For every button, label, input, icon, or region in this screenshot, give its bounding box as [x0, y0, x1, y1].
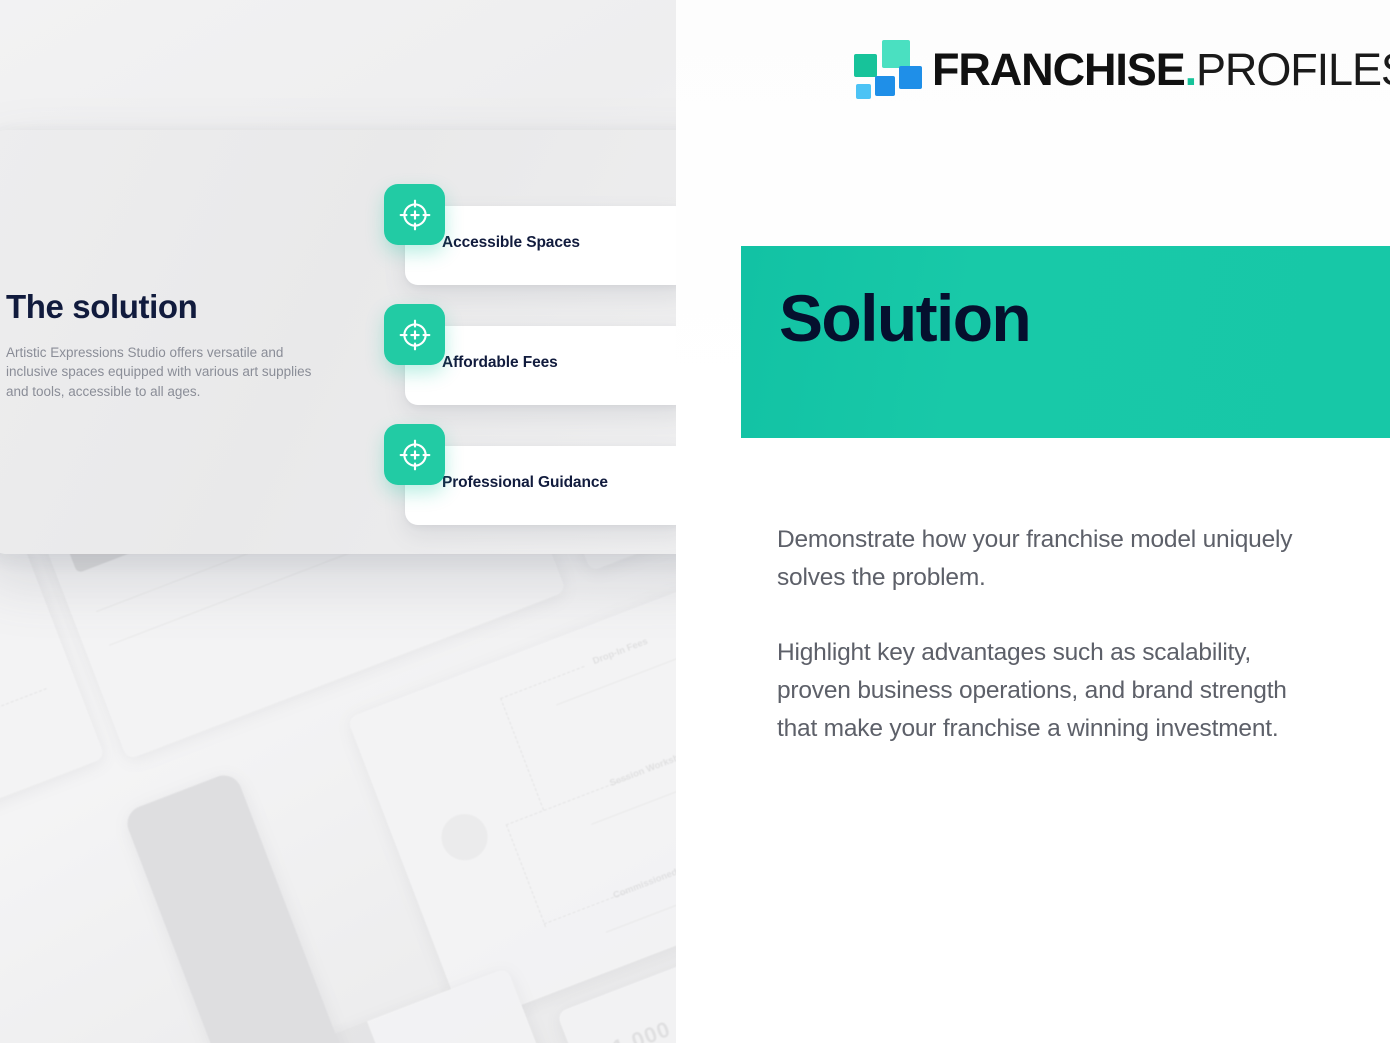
feature-label: Professional Guidance — [442, 474, 608, 492]
feature-label: Accessible Spaces — [442, 234, 580, 252]
bg-slide-bar-block — [122, 770, 352, 1043]
crosshair-icon — [384, 184, 445, 245]
preview-title: The solution — [6, 288, 336, 326]
bg-number: 1,000 — [609, 1016, 674, 1043]
logo-mark-icon — [854, 40, 910, 98]
section-description: Demonstrate how your franchise model uni… — [777, 521, 1317, 748]
feature-label: Affordable Fees — [442, 354, 558, 372]
description-paragraph-2: Highlight key advantages such as scalabi… — [777, 634, 1317, 747]
logo-word-bold: FRANCHISE — [932, 44, 1185, 95]
preview-heading-block: The solution Artistic Expressions Studio… — [6, 288, 336, 401]
description-paragraph-1: Demonstrate how your franchise model uni… — [777, 521, 1317, 596]
logo-wordmark: FRANCHISE.PROFILES — [932, 47, 1390, 92]
bg-label: Session Workshops — [608, 746, 676, 789]
feature-item[interactable]: Affordable Fees — [384, 304, 694, 424]
bg-label: Drop-In Fees — [591, 636, 649, 667]
logo-word-light: PROFILES — [1196, 44, 1390, 95]
brand-logo[interactable]: FRANCHISE.PROFILES — [854, 40, 1390, 98]
section-title-band: Solution — [741, 246, 1390, 438]
page-title: Solution — [779, 282, 1030, 355]
slide-preview-card[interactable]: The solution Artistic Expressions Studio… — [0, 130, 737, 554]
logo-word-dot: . — [1185, 44, 1196, 95]
crosshair-icon — [384, 424, 445, 485]
crosshair-icon — [384, 304, 445, 365]
bg-label: Serviceable Obtainable Market (SOM) — [0, 764, 8, 828]
feature-item[interactable]: Professional Guidance — [384, 424, 694, 544]
feature-list: Accessible Spaces Affordable Fees — [384, 184, 694, 544]
preview-body-text: Artistic Expressions Studio offers versa… — [6, 343, 336, 401]
feature-item[interactable]: Accessible Spaces — [384, 184, 694, 304]
bg-label: Commissioned Art Sales — [612, 851, 676, 901]
